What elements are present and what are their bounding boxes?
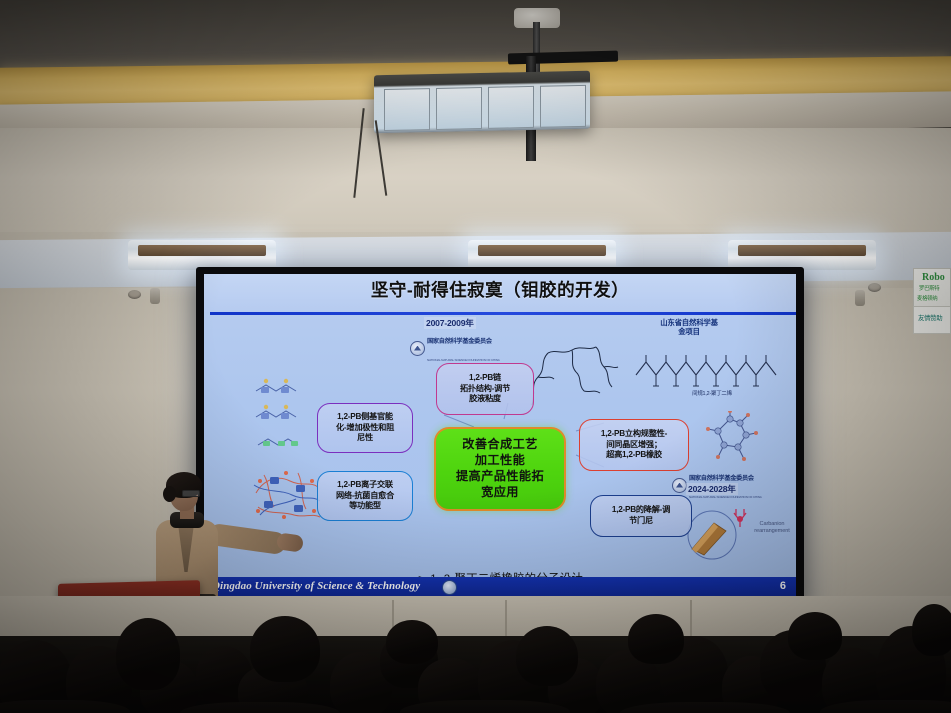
slide-page-number: 6 [780,580,786,592]
audience-head [912,604,951,656]
ceiling-speaker [128,290,141,299]
node-tacticity[interactable]: 1,2-PB立构规整性- 间同晶区增强； 超高1,2-PB橡胶 [579,419,689,471]
footer-institution: Qingdao University of Science & Technolo… [212,580,420,592]
ceiling-lamp [128,240,276,270]
robo-logo-text: Robo [922,272,945,283]
audience-head [116,618,180,690]
wall-sponsor-sign-2: 友情赞助 [913,306,951,334]
wall-sign-line3: 麦格顿纳 [917,294,937,302]
university-emblem-icon [442,580,457,595]
ceiling-lamp [728,240,876,270]
sprinkler-head [855,290,865,306]
node-side-group[interactable]: 1,2-PB侧基官能 化-增加极性和阻 尼性 [317,403,413,453]
audience-head [628,614,684,664]
audience-head [788,612,842,660]
audience-shoulders [620,702,790,713]
presenter-glasses [182,490,200,497]
presenter-hair-bun [163,486,176,502]
slide-body: 2007-2009年 国家自然科学基金委员会 NATIONAL NATURAL … [204,315,796,568]
wall-upper [0,128,951,238]
audience-shoulders [400,700,570,713]
audience-head [386,620,438,664]
audience-head [516,626,578,686]
center-goal-box[interactable]: 改善合成工艺 加工性能 提高产品性能拓 宽应用 [434,427,566,511]
wall-sign-line4: 友情赞助 [918,313,942,322]
ceiling-speaker [868,283,881,292]
lecture-hall-screenshot: Robo 罗巴斯特 麦格顿纳 友情赞助 坚守-耐得住寂寞（钼胶的开发） 2007… [0,0,951,713]
slide-footer-bar: Qingdao University of Science & Technolo… [204,577,796,596]
node-topology[interactable]: 1,2-PB链 拓扑结构-调节 胶液粘度 [436,363,534,415]
audience-head [250,616,320,682]
projector-light-fixture [374,71,590,134]
wall-sign-line2: 罗巴斯特 [919,284,939,292]
ceiling-lamp [468,240,616,270]
node-degradation[interactable]: 1,2-PB的降解-调 节门尼 [590,495,692,537]
sprinkler-head [150,288,160,304]
node-ionic-network[interactable]: 1,2-PB离子交联 网络-抗菌自愈合 等功能型 [317,471,413,521]
slide-title: 坚守-耐得住寂寞（钼胶的开发） [204,277,796,302]
audience-shoulders [180,702,340,713]
